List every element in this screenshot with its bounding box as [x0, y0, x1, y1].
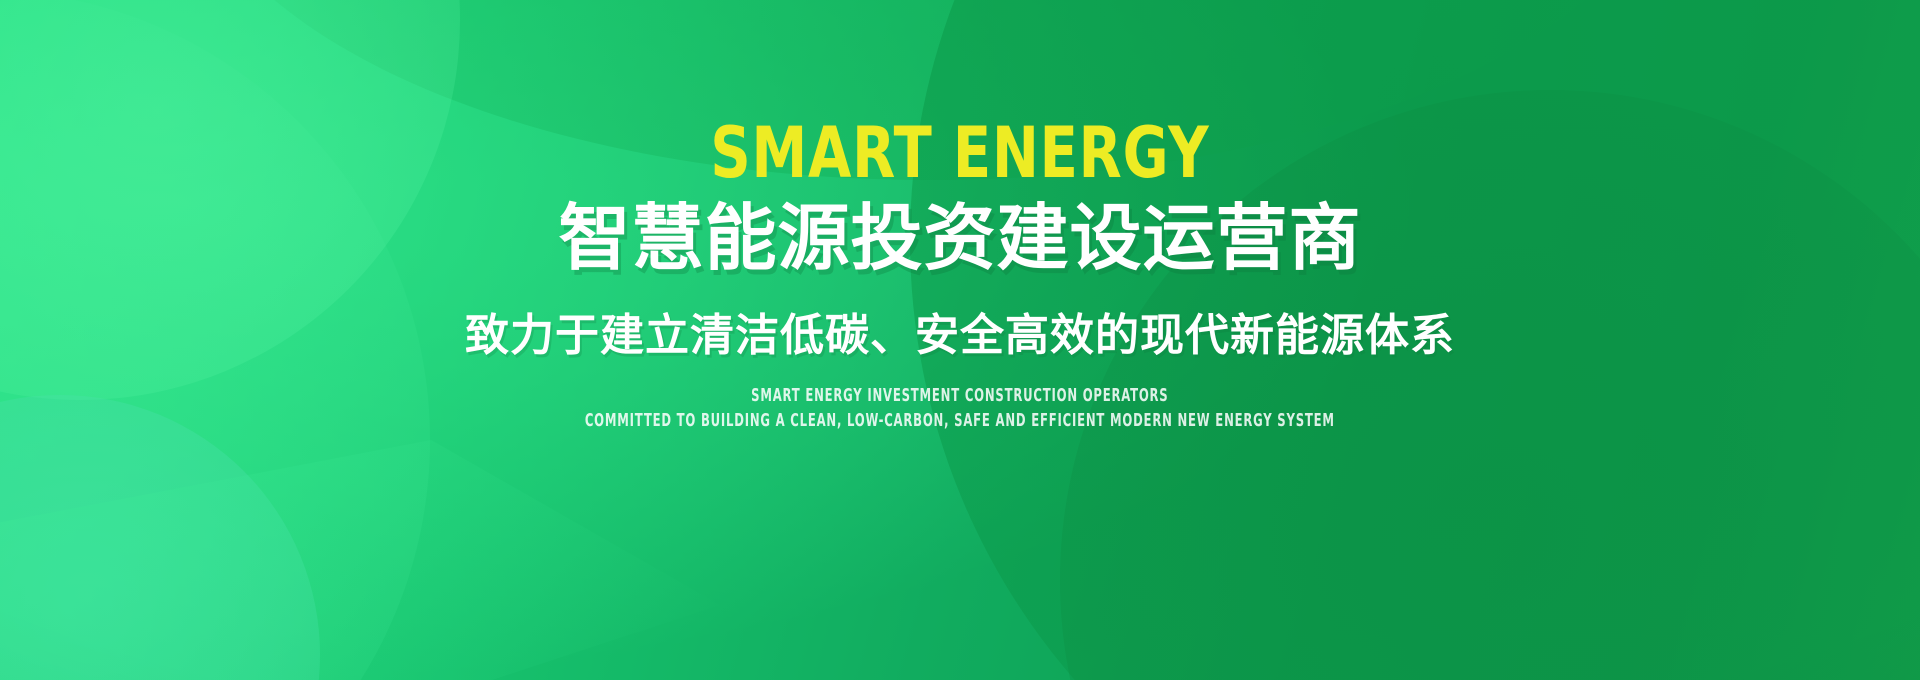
- caption-block: SMART ENERGY INVESTMENT CONSTRUCTION OPE…: [439, 386, 1481, 431]
- headline-chinese: 智慧能源投资建设运营商: [558, 200, 1361, 278]
- hero-banner: SMART ENERGY 智慧能源投资建设运营商 致力于建立清洁低碳、安全高效的…: [0, 0, 1920, 680]
- caption-line-1: SMART ENERGY INVESTMENT CONSTRUCTION OPE…: [751, 386, 1168, 406]
- subtitle-chinese: 致力于建立清洁低碳、安全高效的现代新能源体系: [465, 312, 1455, 360]
- banner-content: SMART ENERGY 智慧能源投资建设运营商 致力于建立清洁低碳、安全高效的…: [0, 0, 1920, 680]
- headline-english: SMART ENERGY: [710, 118, 1209, 188]
- caption-line-2: COMMITTED TO BUILDING A CLEAN, LOW-CARBO…: [585, 411, 1335, 431]
